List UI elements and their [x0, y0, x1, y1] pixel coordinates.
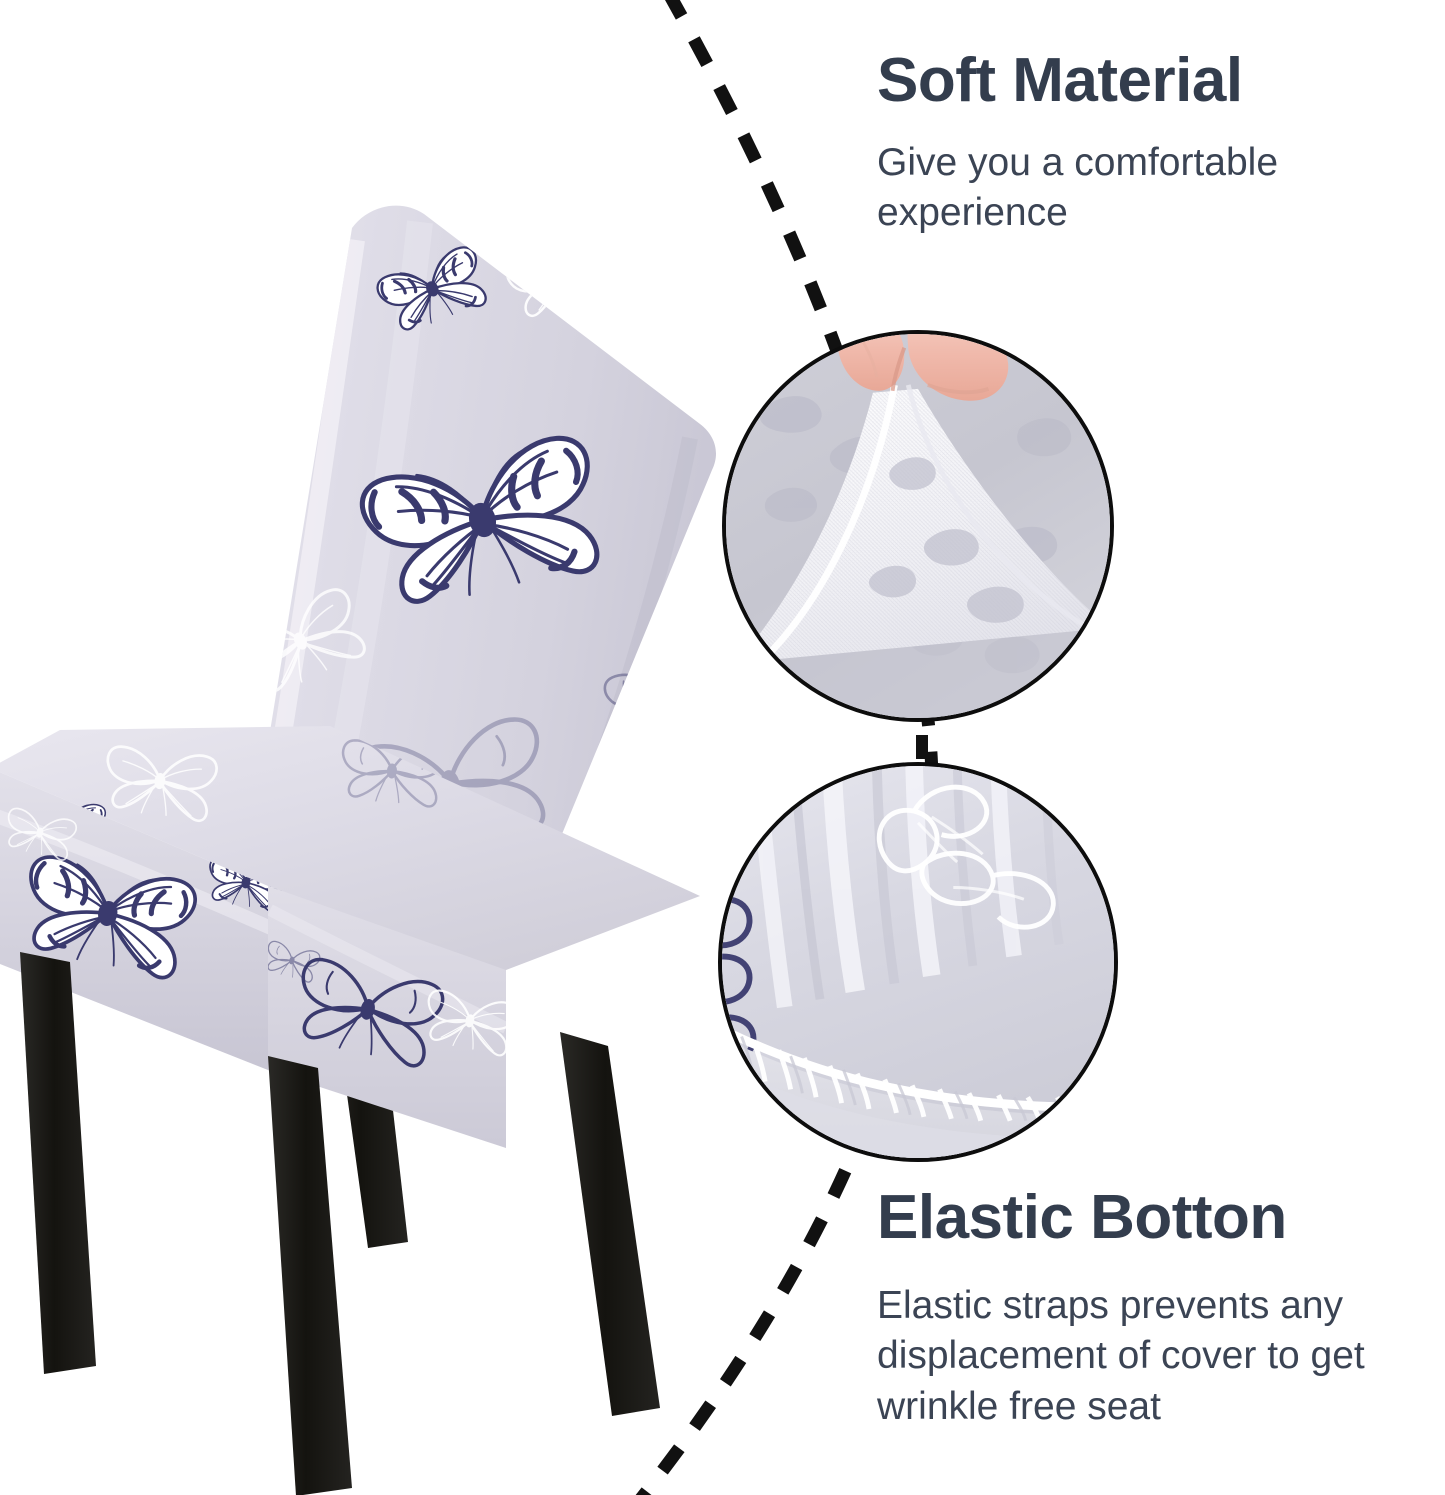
chair-leg-front-right [268, 1056, 352, 1495]
feature-elastic-botton: Elastic Botton Elastic straps prevents a… [877, 1185, 1397, 1433]
covered-dining-chair [0, 170, 720, 1420]
chair-leg-back-right [560, 1032, 660, 1416]
feature-body: Elastic straps prevents any displacement… [877, 1281, 1397, 1433]
infographic-canvas: Soft Material Give you a comfortable exp… [0, 0, 1445, 1495]
feature-title: Elastic Botton [877, 1185, 1397, 1251]
feature-title: Soft Material [877, 48, 1397, 114]
chair-leg-front-left [20, 952, 96, 1374]
elastic-hem-photo [718, 762, 1118, 1162]
feature-body: Give you a comfortable experience [877, 138, 1397, 239]
fabric-pinch-photo [722, 330, 1114, 722]
feature-soft-material: Soft Material Give you a comfortable exp… [877, 48, 1397, 239]
